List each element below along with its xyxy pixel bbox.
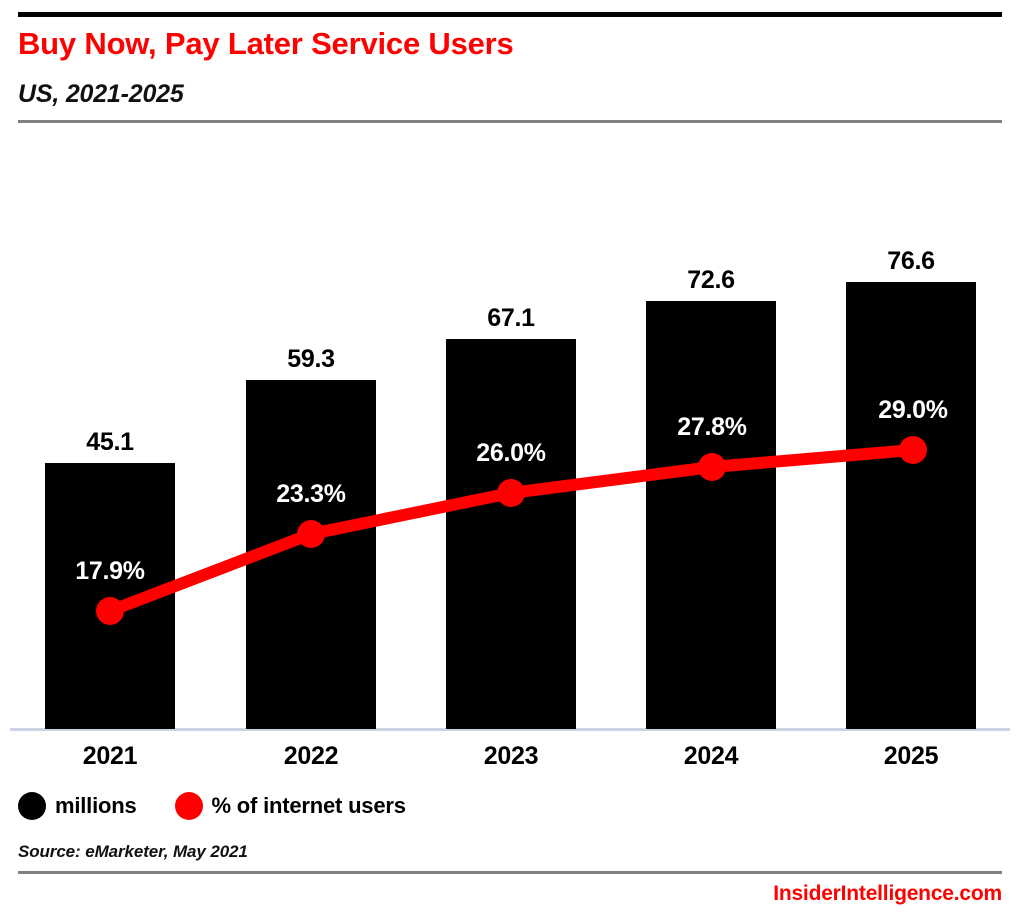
bar-2025 [846, 282, 976, 729]
percent-value-label: 23.3% [221, 480, 401, 509]
bar-value-label: 67.1 [446, 304, 576, 333]
legend-label: % of internet users [212, 793, 406, 819]
bar-2022 [246, 380, 376, 729]
percent-value-label: 27.8% [622, 413, 802, 442]
bar-2023 [446, 339, 576, 729]
bar-value-label: 59.3 [246, 345, 376, 374]
x-tick-label-2024: 2024 [646, 742, 776, 771]
bar-value-label: 45.1 [45, 428, 175, 457]
bar-value-label: 72.6 [646, 266, 776, 295]
source-note: Source: eMarketer, May 2021 [18, 842, 248, 862]
legend-circle-icon-millions [18, 792, 46, 820]
legend-circle-icon-percent [175, 792, 203, 820]
brand-label: InsiderIntelligence.com [773, 882, 1002, 906]
percent-value-label: 29.0% [823, 396, 1003, 425]
percent-value-label: 17.9% [20, 557, 200, 586]
x-tick-label-2025: 2025 [846, 742, 976, 771]
chart-page: Buy Now, Pay Later Service Users US, 202… [0, 0, 1020, 920]
percent-value-label: 26.0% [421, 439, 601, 468]
footer-rule [18, 871, 1002, 874]
bar-2021 [45, 463, 175, 729]
x-tick-label-2023: 2023 [446, 742, 576, 771]
x-tick-label-2022: 2022 [246, 742, 376, 771]
chart-legend: millions % of internet users [18, 792, 406, 820]
x-tick-label-2021: 2021 [45, 742, 175, 771]
legend-label: millions [55, 793, 137, 819]
legend-item-millions: millions [18, 792, 137, 820]
legend-item-percent-internet-users: % of internet users [175, 792, 406, 820]
bar-value-label: 76.6 [846, 247, 976, 276]
bar-2024 [646, 301, 776, 729]
plot-area: 45.1 59.3 67.1 72.6 76.6 17.9% 23.3% 26.… [0, 0, 1020, 920]
